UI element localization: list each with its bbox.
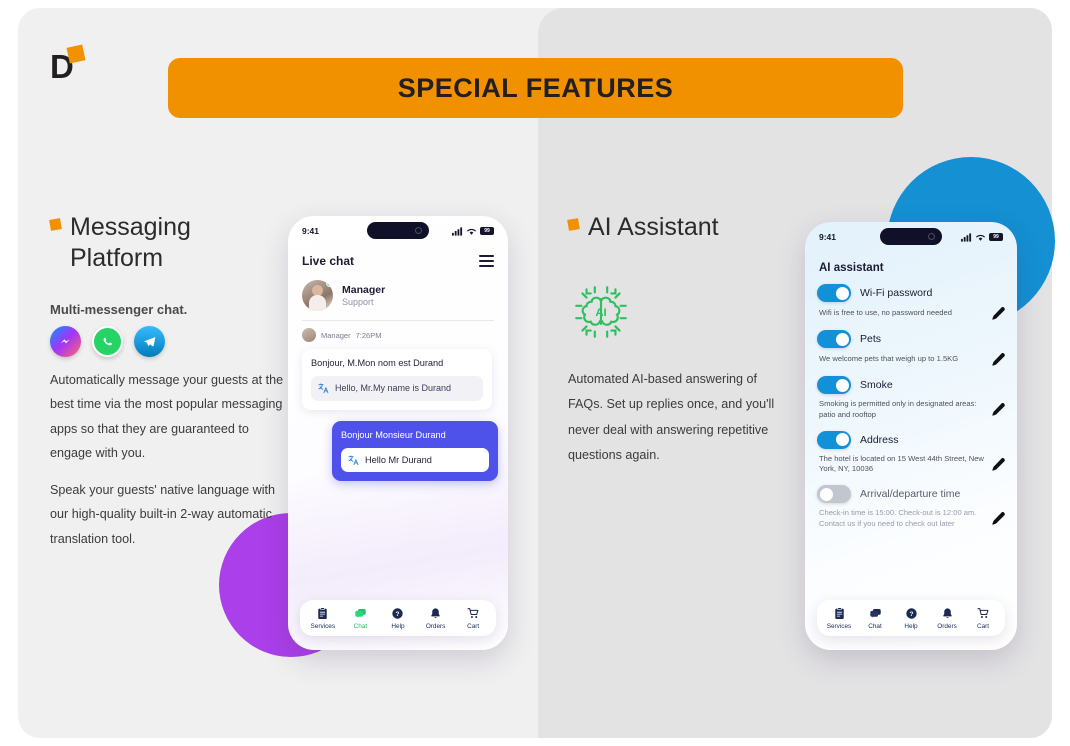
- chat-header-title: Live chat: [302, 254, 354, 268]
- section-heading-messaging: Messaging Platform: [50, 212, 285, 275]
- clipboard-icon: [316, 607, 329, 620]
- brand-logo: D: [50, 46, 92, 82]
- setting-row-body: The hotel is located on 15 West 44th Str…: [817, 454, 1005, 476]
- status-time: 9:41: [302, 226, 319, 236]
- setting-row-header: Pets: [817, 330, 1005, 348]
- nav-item-help[interactable]: ? Help: [893, 607, 929, 630]
- bell-icon: [941, 607, 954, 620]
- edit-pencil-icon[interactable]: [992, 403, 1005, 416]
- message-translation: Hello Mr Durand: [341, 448, 489, 472]
- edit-pencil-icon[interactable]: [992, 353, 1005, 366]
- toggle-switch[interactable]: [817, 485, 851, 503]
- messenger-icon: [50, 326, 81, 357]
- chat-bubbles-icon: [354, 607, 367, 620]
- message-sender: Manager: [321, 331, 351, 340]
- front-camera-icon: [928, 233, 935, 240]
- paragraph-2: Speak your guests' native language with …: [50, 478, 285, 552]
- setting-description: We welcome pets that weigh up to 1.5KG: [819, 354, 986, 365]
- status-bar: 9:41 99: [805, 222, 1017, 252]
- cellular-signal-icon: [452, 227, 463, 236]
- edit-pencil-icon[interactable]: [992, 458, 1005, 471]
- ai-assistant-section: AI Assistant AI Automated AI-based answe…: [568, 212, 788, 468]
- toggle-switch[interactable]: [817, 431, 851, 449]
- setting-row-wifi-password: Wi-Fi password Wifi is free to use, no p…: [805, 274, 1017, 320]
- messenger-app-icons: [50, 326, 285, 357]
- svg-text:AI: AI: [595, 307, 606, 319]
- setting-row-header: Wi-Fi password: [817, 284, 1005, 302]
- setting-label: Wi-Fi password: [860, 287, 932, 299]
- front-camera-icon: [415, 227, 422, 234]
- toggle-switch[interactable]: [817, 376, 851, 394]
- setting-row-address: Address The hotel is located on 15 West …: [805, 421, 1017, 476]
- nav-label: Chat: [868, 623, 882, 630]
- setting-label: Smoke: [860, 379, 893, 391]
- setting-row-body: Wifi is free to use, no password needed: [817, 307, 1005, 320]
- nav-item-chat[interactable]: Chat: [342, 607, 378, 630]
- battery-icon: 99: [989, 233, 1003, 241]
- status-bar: 9:41 99: [288, 216, 508, 246]
- edit-pencil-icon[interactable]: [992, 307, 1005, 320]
- cart-icon: [467, 607, 480, 620]
- nav-label: Chat: [354, 623, 368, 630]
- setting-row-arrival-departure-time: Arrival/departure time Check-in time is …: [805, 475, 1017, 530]
- phone-mockup-ai-assistant: 9:41 99 AI assistant Wi-Fi password Wifi…: [805, 222, 1017, 650]
- section-heading-ai: AI Assistant: [568, 212, 788, 243]
- orange-square-bullet-icon: [567, 218, 580, 231]
- wifi-icon: [975, 233, 986, 242]
- nav-item-help[interactable]: ? Help: [380, 607, 416, 630]
- setting-row-header: Address: [817, 431, 1005, 449]
- contact-role: Support: [342, 297, 385, 307]
- setting-description: Wifi is free to use, no password needed: [819, 308, 986, 319]
- setting-row-header: Arrival/departure time: [817, 485, 1005, 503]
- question-circle-icon: ?: [391, 607, 404, 620]
- nav-label: Help: [904, 623, 917, 630]
- section-subtitle: Multi-messenger chat.: [50, 302, 285, 317]
- avatar: [302, 280, 333, 311]
- ai-header-title: AI assistant: [805, 252, 1017, 274]
- nav-item-cart[interactable]: Cart: [455, 607, 491, 630]
- paragraph-1: Automatically message your guests at the…: [50, 368, 285, 466]
- nav-item-cart[interactable]: Cart: [965, 607, 1001, 630]
- bottom-navigation: Services Chat ? Help Orders Cart: [300, 600, 496, 636]
- setting-label: Address: [860, 434, 899, 446]
- cellular-signal-icon: [961, 233, 972, 242]
- chat-bubble-outgoing: Bonjour Monsieur Durand Hello Mr Durand: [332, 421, 498, 482]
- toggle-switch[interactable]: [817, 284, 851, 302]
- setting-row-smoke: Smoke Smoking is permitted only in desig…: [805, 366, 1017, 421]
- bottom-navigation: Services Chat ? Help Orders Cart: [817, 600, 1005, 636]
- message-meta: Manager 7:26PM: [288, 321, 508, 347]
- status-indicators: 99: [961, 233, 1003, 242]
- cart-icon: [977, 607, 990, 620]
- dynamic-island: [880, 228, 942, 245]
- nav-label: Orders: [426, 623, 446, 630]
- setting-label: Pets: [860, 333, 881, 345]
- chat-contact[interactable]: Manager Support: [288, 274, 508, 320]
- status-indicators: 99: [452, 227, 494, 236]
- nav-item-orders[interactable]: Orders: [929, 607, 965, 630]
- nav-label: Cart: [977, 623, 989, 630]
- message-timestamp: 7:26PM: [356, 331, 382, 340]
- setting-row-header: Smoke: [817, 376, 1005, 394]
- setting-row-body: We welcome pets that weigh up to 1.5KG: [817, 353, 1005, 366]
- nav-label: Services: [311, 623, 336, 630]
- setting-label: Arrival/departure time: [860, 488, 960, 500]
- svg-text:?: ?: [396, 611, 400, 618]
- bell-icon: [429, 607, 442, 620]
- online-status-dot: [326, 280, 333, 287]
- messaging-platform-section: Messaging Platform Multi-messenger chat.…: [50, 212, 285, 551]
- edit-pencil-icon[interactable]: [992, 512, 1005, 525]
- page-title: SPECIAL FEATURES: [398, 73, 674, 104]
- phone-mockup-chat: 9:41 99 Live chat Manager Support: [288, 216, 508, 650]
- nav-label: Services: [827, 623, 852, 630]
- toggle-switch[interactable]: [817, 330, 851, 348]
- ai-brain-circuit-icon: AI: [568, 279, 788, 345]
- section-title: Messaging Platform: [70, 212, 285, 275]
- setting-description: The hotel is located on 15 West 44th Str…: [819, 454, 986, 476]
- nav-label: Cart: [467, 623, 479, 630]
- setting-row-pets: Pets We welcome pets that weigh up to 1.…: [805, 320, 1017, 366]
- section-title: AI Assistant: [588, 212, 719, 243]
- chat-header: Live chat: [288, 246, 508, 274]
- setting-description: Check-in time is 15:00. Check-out is 12:…: [819, 508, 986, 530]
- hamburger-menu-icon[interactable]: [479, 255, 494, 267]
- question-circle-icon: ?: [905, 607, 918, 620]
- translation-text: Hello, Mr.My name is Durand: [335, 382, 451, 394]
- nav-item-services[interactable]: Services: [305, 607, 341, 630]
- nav-label: Help: [391, 623, 404, 630]
- nav-label: Orders: [937, 623, 957, 630]
- slide-canvas: D SPECIAL FEATURES Messaging Platform Mu…: [0, 0, 1070, 746]
- logo-square-icon: [67, 45, 86, 64]
- orange-square-bullet-icon: [49, 218, 62, 231]
- title-banner: SPECIAL FEATURES: [168, 58, 903, 118]
- paragraph-ai: Automated AI-based answering of FAQs. Se…: [568, 367, 788, 468]
- setting-row-body: Smoking is permitted only in designated …: [817, 399, 1005, 421]
- dynamic-island: [367, 222, 429, 239]
- message-avatar: [302, 328, 316, 342]
- svg-text:?: ?: [909, 611, 913, 618]
- wifi-icon: [466, 227, 477, 236]
- nav-item-chat[interactable]: Chat: [857, 607, 893, 630]
- setting-row-body: Check-in time is 15:00. Check-out is 12:…: [817, 508, 1005, 530]
- chat-bubbles-icon: [869, 607, 882, 620]
- translation-text: Hello Mr Durand: [365, 454, 432, 466]
- message-translation: Hello, Mr.My name is Durand: [311, 376, 483, 400]
- translate-icon: [318, 383, 329, 394]
- contact-name: Manager: [342, 284, 385, 296]
- nav-item-orders[interactable]: Orders: [418, 607, 454, 630]
- status-time: 9:41: [819, 232, 836, 242]
- message-text: Bonjour Monsieur Durand: [341, 429, 489, 441]
- translate-icon: [348, 455, 359, 466]
- chat-bubble-incoming: Bonjour, M.Mon nom est Durand Hello, Mr.…: [302, 349, 492, 410]
- whatsapp-icon: [92, 326, 123, 357]
- nav-item-services[interactable]: Services: [821, 607, 857, 630]
- telegram-icon: [134, 326, 165, 357]
- setting-description: Smoking is permitted only in designated …: [819, 399, 986, 421]
- battery-icon: 99: [480, 227, 494, 235]
- clipboard-icon: [833, 607, 846, 620]
- message-text: Bonjour, M.Mon nom est Durand: [311, 357, 483, 369]
